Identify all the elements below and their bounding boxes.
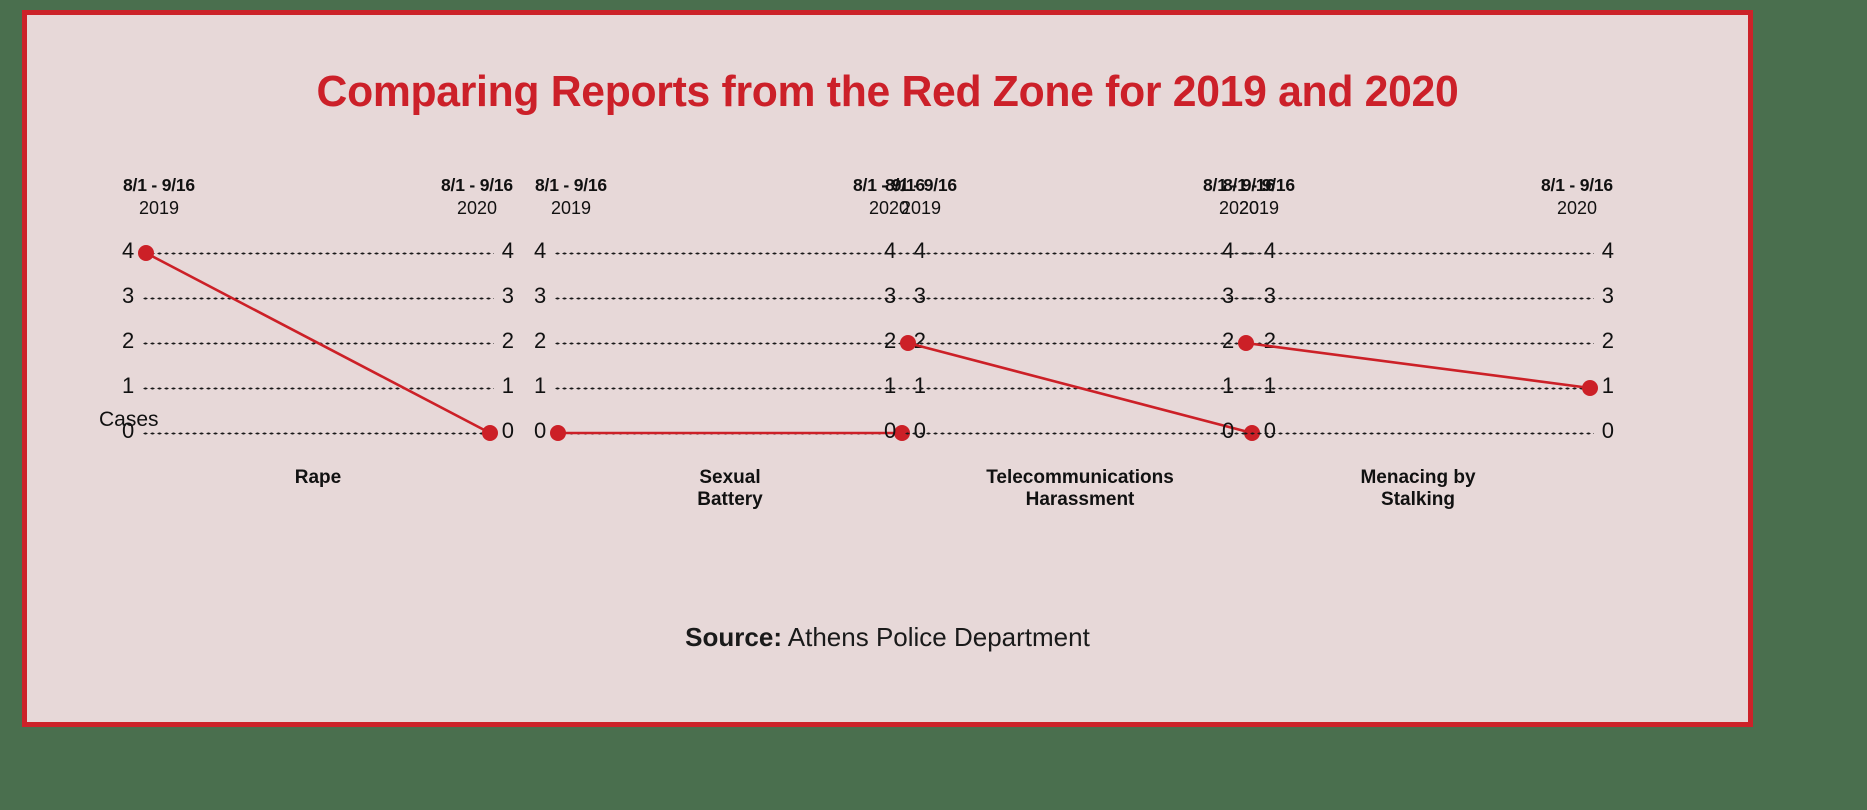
source-credit: Source: Athens Police Department xyxy=(27,622,1748,653)
y-tick-label-left: 3 xyxy=(122,285,134,307)
panel-category-label-line: Rape xyxy=(142,467,494,489)
y-tick-label-left: 0 xyxy=(534,420,546,442)
column-header-year: 2020 xyxy=(1492,197,1662,220)
column-header-year: 2019 xyxy=(74,197,244,220)
column-header-range: 8/1 - 9/16 xyxy=(74,175,244,197)
page-title: Comparing Reports from the Red Zone for … xyxy=(53,67,1722,117)
data-point-start xyxy=(900,335,916,351)
slope-line xyxy=(146,253,490,433)
panel-category-label-line: Stalking xyxy=(1242,489,1594,511)
y-tick-label-right: 2 xyxy=(1602,330,1614,352)
y-tick-label-left: 2 xyxy=(122,330,134,352)
panel-category-label-line: Sexual xyxy=(554,467,906,489)
slopegraph-panel: 8/1 - 9/1620198/1 - 9/1620204433221100Se… xyxy=(554,175,906,515)
y-tick-label-right: 3 xyxy=(502,285,514,307)
y-tick-label-left: 0 xyxy=(884,420,896,442)
panel-plot-area: 4433221100 xyxy=(142,253,494,433)
data-point-start xyxy=(550,425,566,441)
y-tick-label-left: 2 xyxy=(884,330,896,352)
panel-plot-area: 4433221100 xyxy=(904,253,1256,433)
panel-plot-area: 4433221100 xyxy=(1242,253,1594,433)
slope-line-group xyxy=(904,253,1256,433)
panel-plot-area: 4433221100 xyxy=(554,253,906,433)
y-tick-label-left: 2 xyxy=(534,330,546,352)
slopegraph-panel: 8/1 - 9/1620198/1 - 9/1620204433221100Te… xyxy=(904,175,1256,515)
slopegraph-panel: 8/1 - 9/1620198/1 - 9/1620204433221100Me… xyxy=(1242,175,1594,515)
source-label: Source: xyxy=(685,622,782,652)
panel-category-label-line: Battery xyxy=(554,489,906,511)
y-tick-label-left: 3 xyxy=(1222,285,1234,307)
slope-line xyxy=(908,343,1252,433)
y-tick-label-left: 4 xyxy=(1222,240,1234,262)
data-point-start xyxy=(1238,335,1254,351)
y-tick-label-left: 2 xyxy=(1222,330,1234,352)
y-tick-label-left: 4 xyxy=(122,240,134,262)
column-header-left: 8/1 - 9/162019 xyxy=(1174,175,1344,219)
slope-line-group xyxy=(554,253,906,433)
panel-category-label-line: Menacing by xyxy=(1242,467,1594,489)
data-point-start xyxy=(138,245,154,261)
data-point-end xyxy=(1582,380,1598,396)
column-header-range: 8/1 - 9/16 xyxy=(836,175,1006,197)
y-tick-label-right: 4 xyxy=(1602,240,1614,262)
y-tick-label-left: 4 xyxy=(534,240,546,262)
column-header-year: 2019 xyxy=(836,197,1006,220)
y-tick-label-left: 4 xyxy=(884,240,896,262)
y-tick-label-left: 1 xyxy=(122,375,134,397)
column-header-left: 8/1 - 9/162019 xyxy=(486,175,656,219)
data-point-end xyxy=(482,425,498,441)
y-tick-label-right: 3 xyxy=(1602,285,1614,307)
slope-line-group xyxy=(142,253,494,433)
slope-line xyxy=(1246,343,1590,388)
column-header-year: 2019 xyxy=(1174,197,1344,220)
y-tick-label-right: 2 xyxy=(502,330,514,352)
panel-column-headers: 8/1 - 9/1620198/1 - 9/162020 xyxy=(142,175,494,233)
slopegraph-panel: 8/1 - 9/1620198/1 - 9/1620204433221100Ra… xyxy=(142,175,494,515)
panel-category-label: SexualBattery xyxy=(554,467,906,511)
column-header-range: 8/1 - 9/16 xyxy=(486,175,656,197)
panel-category-label: Menacing byStalking xyxy=(1242,467,1594,511)
y-tick-label-left: 3 xyxy=(884,285,896,307)
y-tick-label-right: 1 xyxy=(1602,375,1614,397)
y-axis-label: Cases xyxy=(99,408,159,432)
y-tick-label-right: 0 xyxy=(502,420,514,442)
panel-category-label: Rape xyxy=(142,467,494,489)
y-tick-label-right: 0 xyxy=(1602,420,1614,442)
y-tick-label-left: 1 xyxy=(884,375,896,397)
y-tick-label-left: 1 xyxy=(534,375,546,397)
panel-category-label: TelecommunicationsHarassment xyxy=(904,467,1256,511)
panel-column-headers: 8/1 - 9/1620198/1 - 9/162020 xyxy=(1242,175,1594,233)
y-tick-label-left: 1 xyxy=(1222,375,1234,397)
column-header-range: 8/1 - 9/16 xyxy=(1174,175,1344,197)
infographic-card: Comparing Reports from the Red Zone for … xyxy=(22,10,1753,727)
column-header-left: 8/1 - 9/162019 xyxy=(836,175,1006,219)
slope-line-group xyxy=(1242,253,1594,433)
slopegraph-panel-group: 8/1 - 9/1620198/1 - 9/1620204433221100Ra… xyxy=(87,175,1697,515)
y-tick-label-left: 0 xyxy=(1222,420,1234,442)
column-header-right: 8/1 - 9/162020 xyxy=(1492,175,1662,219)
source-value: Athens Police Department xyxy=(782,622,1090,652)
column-header-left: 8/1 - 9/162019 xyxy=(74,175,244,219)
column-header-range: 8/1 - 9/16 xyxy=(1492,175,1662,197)
column-header-year: 2019 xyxy=(486,197,656,220)
y-tick-label-right: 4 xyxy=(502,240,514,262)
panel-category-label-line: Telecommunications xyxy=(904,467,1256,489)
y-tick-label-left: 3 xyxy=(534,285,546,307)
y-tick-label-right: 1 xyxy=(502,375,514,397)
panel-category-label-line: Harassment xyxy=(904,489,1256,511)
